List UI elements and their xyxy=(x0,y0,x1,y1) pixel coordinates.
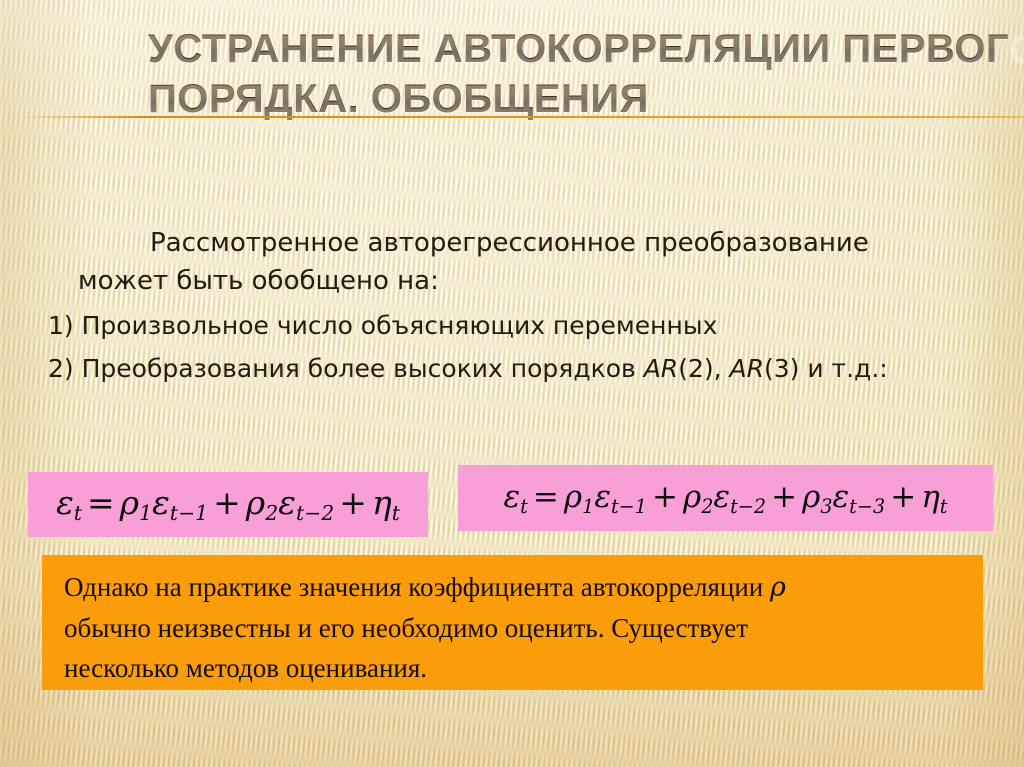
formula-ar3-coef-3: ρ xyxy=(802,479,820,515)
formula-ar2-lhs: ε xyxy=(56,483,74,522)
slide-title: УСТРАНЕНИЕ АВТОКОРРЕЛЯЦИИ ПЕРВОГО УСТРАН… xyxy=(148,24,1008,124)
formula-ar2-var-1: ε xyxy=(152,483,170,522)
ar-label-2: AR xyxy=(730,354,764,383)
formula-ar2-coef-1: ρ xyxy=(120,483,139,522)
ar-label-1: AR xyxy=(644,354,678,383)
title-line-1: УСТРАНЕНИЕ АВТОКОРРЕЛЯЦИИ ПЕРВОГО УСТРАН… xyxy=(148,24,1008,74)
formula-ar3-lhs: ε xyxy=(504,479,521,515)
list-item-2-prefix: 2) Преобразования более высоких порядков xyxy=(48,354,644,383)
formula-ar3-plus-2: + xyxy=(766,479,802,515)
formula-ar3-equals: = xyxy=(528,479,564,515)
formula-ar2-var-2: ε xyxy=(278,483,296,522)
formula-ar2-equals: = xyxy=(82,483,120,522)
note-line-1: Однако на практике значения коэффициента… xyxy=(64,567,963,608)
formula-ar3-var-3-sub: t−3 xyxy=(849,494,885,517)
generalization-list: 1) Произвольное число объясняющих переме… xyxy=(48,304,1008,390)
formula-ar3-plus-3: + xyxy=(885,479,921,515)
note-callout-box: Однако на практике значения коэффициента… xyxy=(42,555,983,690)
formula-ar3-coef-2-sub: 2 xyxy=(701,494,713,517)
formula-ar2-coef-2: ρ xyxy=(246,483,265,522)
ar-arg-2: (3) и т.д.: xyxy=(764,354,888,383)
ar-arg-1: (2), xyxy=(678,354,729,383)
formula-ar2-lhs-sub: t xyxy=(74,502,82,526)
formula-ar2-plus-1: + xyxy=(208,483,246,522)
formula-ar3-var-2-sub: t−2 xyxy=(730,494,766,517)
formula-ar3: εt=ρ1εt−1+ρ2εt−2+ρ3εt−3+ηt xyxy=(504,479,948,518)
lead-paragraph: Рассмотренное авторегрессионное преобраз… xyxy=(78,224,958,300)
formula-box-ar3: εt=ρ1εt−1+ρ2εt−2+ρ3εt−3+ηt xyxy=(458,465,993,531)
formula-ar3-var-1: ε xyxy=(594,479,611,515)
slide-canvas: УСТРАНЕНИЕ АВТОКОРРЕЛЯЦИИ ПЕРВОГО УСТРАН… xyxy=(0,0,1024,767)
title-line-1-text: УСТРАНЕНИЕ АВТОКОРРЕЛЯЦИИ ПЕРВОГО xyxy=(148,27,1024,71)
formula-ar3-noise: η xyxy=(921,479,940,515)
formula-ar2-var-2-sub: t−2 xyxy=(296,502,334,526)
formula-ar3-lhs-sub: t xyxy=(520,494,528,517)
formula-ar3-var-2: ε xyxy=(713,479,730,515)
formula-ar2-coef-1-sub: 1 xyxy=(139,502,152,526)
list-item-1: 1) Произвольное число объясняющих переме… xyxy=(48,304,1008,347)
formula-ar3-var-1-sub: t−1 xyxy=(611,494,647,517)
formula-ar2-noise-sub: t xyxy=(392,502,400,526)
note-line-1-text: Однако на практике значения коэффициента… xyxy=(64,572,770,602)
list-item-2: 2) Преобразования более высоких порядков… xyxy=(48,347,1008,390)
formula-ar3-coef-1: ρ xyxy=(564,479,582,515)
note-line-2: обычно неизвестны и его необходимо оцени… xyxy=(64,608,963,648)
formula-ar3-coef-3-sub: 3 xyxy=(820,494,832,517)
formula-ar2-var-1-sub: t−1 xyxy=(170,502,208,526)
title-line-2-text: ПОРЯДКА. ОБОБЩЕНИЯ xyxy=(148,77,649,121)
formula-ar2-plus-2: + xyxy=(334,483,372,522)
formula-ar2-coef-2-sub: 2 xyxy=(265,502,278,526)
formula-box-ar2: εt=ρ1εt−1+ρ2εt−2+ηt xyxy=(28,472,428,537)
formula-ar2: εt=ρ1εt−1+ρ2εt−2+ηt xyxy=(56,483,400,525)
rho-symbol: ρ xyxy=(770,572,786,603)
formula-ar2-noise: η xyxy=(372,483,392,522)
formula-ar3-coef-1-sub: 1 xyxy=(582,494,594,517)
formula-ar3-plus-1: + xyxy=(647,479,683,515)
formula-ar3-var-3: ε xyxy=(833,479,850,515)
formula-ar3-coef-2: ρ xyxy=(683,479,701,515)
formula-ar3-noise-sub: t xyxy=(940,494,948,517)
note-line-3: несколько методов оценивания. xyxy=(64,648,963,688)
title-divider-rule xyxy=(18,116,1024,118)
